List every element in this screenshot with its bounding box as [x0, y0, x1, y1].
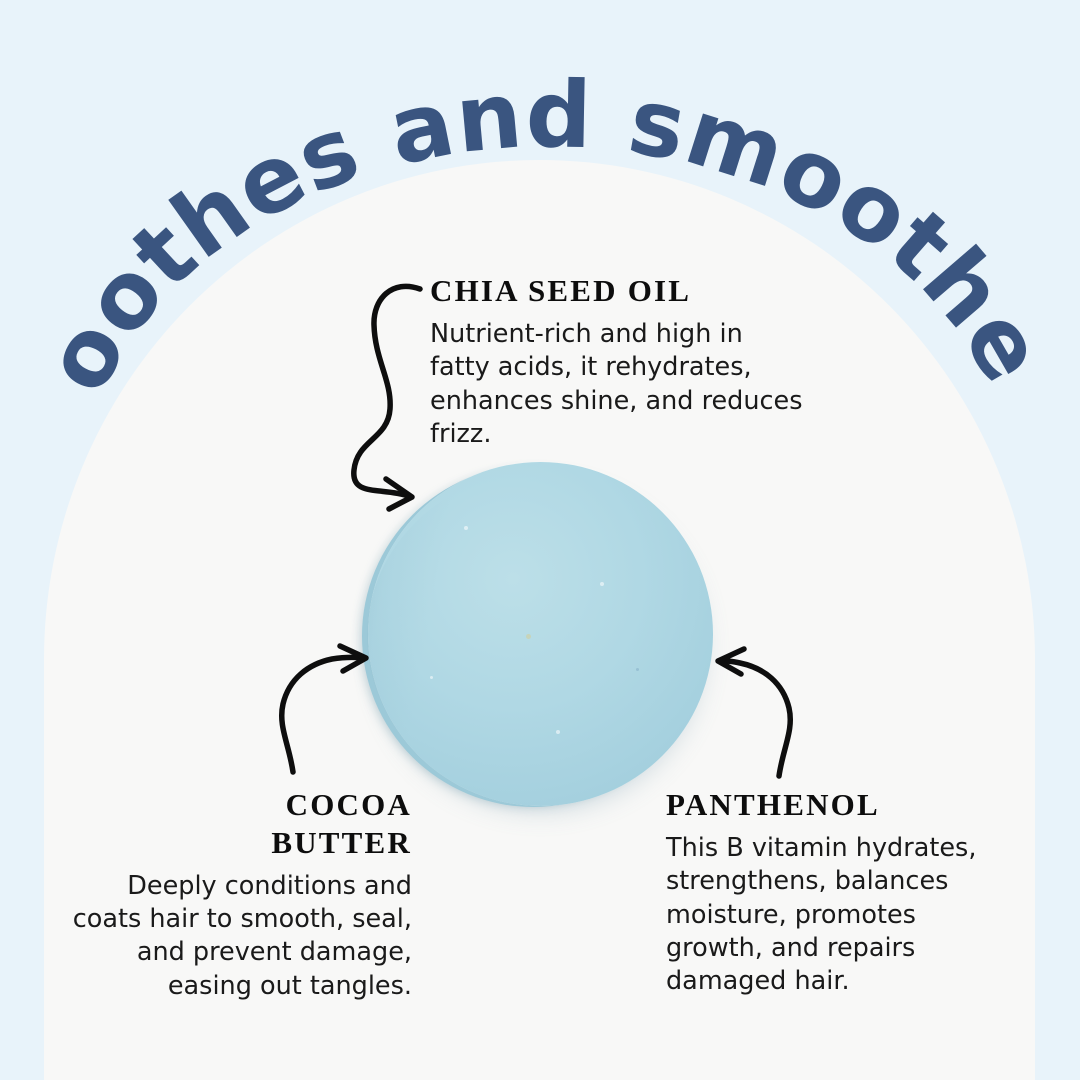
- callout-title-chia-seed-oil: CHIA SEED OIL: [430, 272, 810, 310]
- product-ingredient-infographic: soothes and smoothes CHIA SEED OIL: [0, 0, 1080, 1080]
- callout-body-chia-seed-oil: Nutrient-rich and high in fatty acids, i…: [430, 318, 810, 452]
- product-speck: [526, 634, 531, 639]
- product-speck: [464, 526, 468, 530]
- product-rim: [367, 472, 712, 802]
- callout-body-cocoa-butter: Deeply conditions and coats hair to smoo…: [60, 870, 412, 1004]
- callout-title-cocoa-butter: COCOA BUTTER: [60, 786, 412, 862]
- product-speck: [636, 668, 639, 671]
- product-shampoo-bar: [368, 462, 713, 806]
- callout-title-panthenol: PANTHENOL: [666, 786, 986, 824]
- callout-title-line-2: BUTTER: [271, 825, 412, 860]
- callout-body-panthenol: This B vitamin hydrates, strengthens, ba…: [666, 832, 986, 999]
- callout-cocoa-butter: COCOA BUTTER Deeply conditions and coats…: [60, 786, 412, 1003]
- callout-chia-seed-oil: CHIA SEED OIL Nutrient-rich and high in …: [430, 272, 810, 451]
- product-speck: [430, 676, 433, 679]
- callout-title-line-1: COCOA: [286, 787, 412, 822]
- product-speck: [600, 582, 604, 586]
- callout-panthenol: PANTHENOL This B vitamin hydrates, stren…: [666, 786, 986, 999]
- product-speck: [556, 730, 560, 734]
